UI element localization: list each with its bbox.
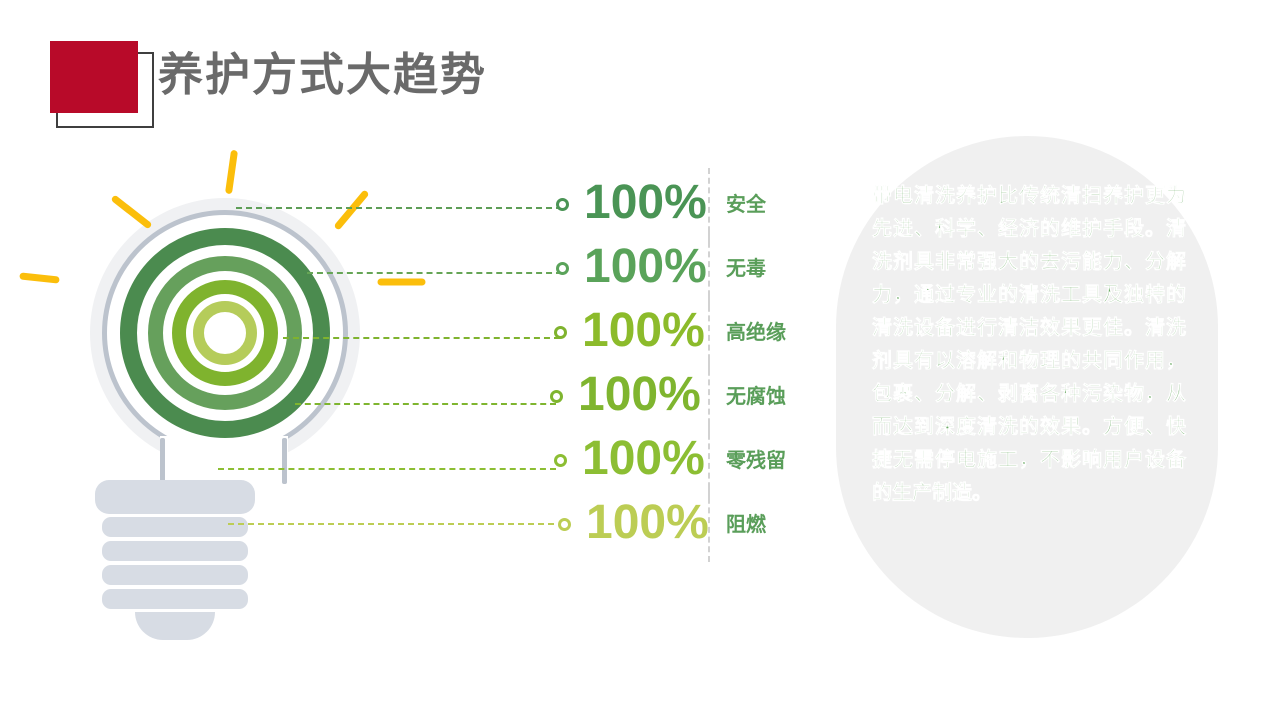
stat-marker-icon xyxy=(556,198,569,211)
page-title: 养护方式大趋势 xyxy=(158,44,487,106)
stat-marker-icon xyxy=(556,262,569,275)
stat-value: 100% xyxy=(584,172,707,234)
stat-row[interactable]: 100%高绝缘 xyxy=(548,304,808,366)
slide-canvas: 养护方式大趋势 100%安全100%无毒100%高绝缘100%无腐蚀100%零残… xyxy=(0,0,1283,721)
connector-line xyxy=(307,272,562,274)
ray-top-icon xyxy=(225,150,238,195)
stat-label: 高绝缘 xyxy=(726,310,786,356)
stat-marker-icon xyxy=(554,326,567,339)
ray-left-icon xyxy=(19,272,60,283)
stat-label: 无毒 xyxy=(726,246,766,292)
stat-value: 100% xyxy=(586,492,709,554)
bulb-base-collar xyxy=(95,480,255,514)
description-text: 带电清洗养护比传统清扫养护更为先进、科学、经济的维护手段。清洗剂具非常强大的去污… xyxy=(872,180,1186,510)
stat-value: 100% xyxy=(584,236,707,298)
stat-divider xyxy=(708,168,710,242)
title-accent-square xyxy=(50,41,138,113)
stat-marker-icon xyxy=(558,518,571,531)
bulb-base-thread xyxy=(102,589,248,609)
bulb-neck-left xyxy=(160,438,165,484)
stat-row[interactable]: 100%零残留 xyxy=(548,432,808,494)
page-title-block: 养护方式大趋势 xyxy=(50,38,570,134)
stat-divider xyxy=(708,296,710,370)
stat-row[interactable]: 100%无腐蚀 xyxy=(548,368,808,430)
bulb-neck-right xyxy=(282,438,287,484)
connector-line xyxy=(218,468,556,470)
stat-divider xyxy=(708,488,710,562)
stats-list: 100%安全100%无毒100%高绝缘100%无腐蚀100%零残留100%阻燃 xyxy=(548,176,808,566)
stat-marker-icon xyxy=(554,454,567,467)
description-panel: 带电清洗养护比传统清扫养护更为先进、科学、经济的维护手段。清洗剂具非常强大的去污… xyxy=(836,136,1218,638)
bulb-base-tip xyxy=(135,612,215,640)
ray-upper-left-icon xyxy=(110,194,152,229)
stat-divider xyxy=(708,232,710,306)
ray-right-icon xyxy=(378,279,426,286)
stat-row[interactable]: 100%安全 xyxy=(548,176,808,238)
stat-label: 安全 xyxy=(726,182,766,228)
stat-label: 阻燃 xyxy=(726,502,766,548)
ray-upper-right-icon xyxy=(333,189,369,230)
stat-label: 无腐蚀 xyxy=(726,374,786,420)
stat-value: 100% xyxy=(582,428,705,490)
connector-line xyxy=(228,523,554,525)
stat-value: 100% xyxy=(582,300,705,362)
bulb-base-thread xyxy=(102,565,248,585)
connector-line xyxy=(283,337,560,339)
stat-divider xyxy=(708,424,710,498)
bulb-neck-fill xyxy=(160,436,288,484)
stat-marker-icon xyxy=(550,390,563,403)
connector-line xyxy=(295,403,556,405)
connector-line xyxy=(236,207,562,209)
stat-divider xyxy=(708,360,710,434)
stat-label: 零残留 xyxy=(726,438,786,484)
bulb-base-thread xyxy=(102,541,248,561)
ring-inner-icon xyxy=(193,301,257,365)
stat-row[interactable]: 100%无毒 xyxy=(548,240,808,302)
stat-value: 100% xyxy=(578,364,701,426)
stat-row[interactable]: 100%阻燃 xyxy=(548,496,808,558)
bulb-base-thread xyxy=(102,517,248,537)
